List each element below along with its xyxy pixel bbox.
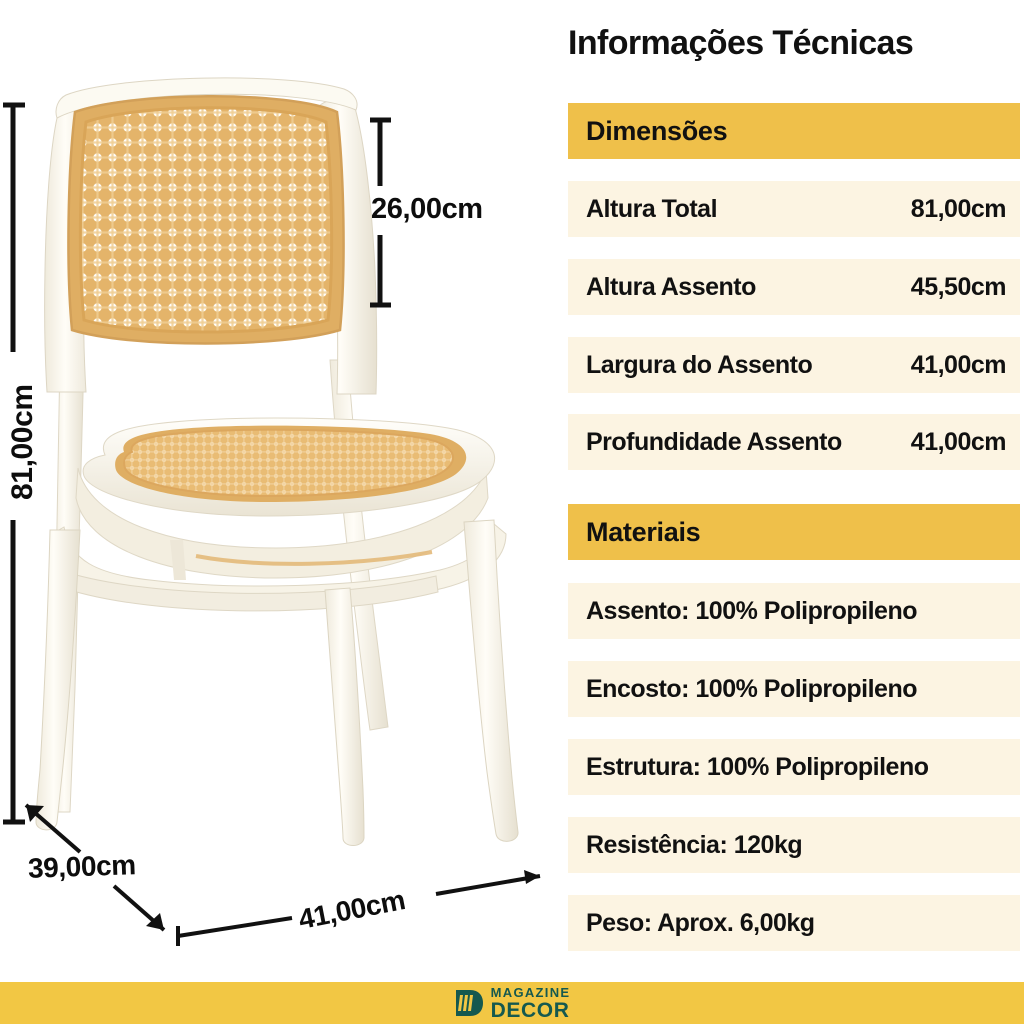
table-row: Peso: Aprox. 6,00kg [568,895,1020,951]
dimension-label-altura-total: 81,00cm [6,384,40,500]
row-value-largura-assento: 41,00cm [911,351,1006,380]
row-key-peso: Peso: Aprox. 6,00kg [586,909,815,938]
table-row: Altura Total 81,00cm [568,181,1020,237]
chair-backrest-cane [68,96,343,343]
magazine-decor-logo: MAGAZINE DECOR [454,986,571,1021]
dim-arrow-width-end [524,870,540,884]
row-value-altura-total: 81,00cm [911,195,1006,224]
table-row: Largura do Assento 41,00cm [568,337,1020,393]
row-key-encosto-material: Encosto: 100% Polipropileno [586,675,917,704]
section-header-materiais: Materiais [568,504,1020,560]
table-row: Profundidade Assento 41,00cm [568,414,1020,470]
section-header-materiais-label: Materiais [568,517,700,548]
row-key-estrutura-material: Estrutura: 100% Polipropileno [586,753,929,782]
row-key-altura-total: Altura Total [586,195,717,224]
table-row: Resistência: 120kg [568,817,1020,873]
row-key-profundidade-assento: Profundidade Assento [586,428,842,457]
logo-wordmark: MAGAZINE DECOR [491,986,571,1021]
table-row: Altura Assento 45,50cm [568,259,1020,315]
chair-drawing [0,0,556,982]
chair-illustration-pane: 81,00cm 26,00cm 39,00cm 41,00cm [0,0,556,982]
dim-line-width-b [436,876,540,894]
dim-line-width-a [178,918,292,936]
footer-bar: MAGAZINE DECOR [0,982,1024,1024]
row-key-resistencia: Resistência: 120kg [586,831,802,860]
logo-mark-icon [454,988,484,1018]
row-value-profundidade-assento: 41,00cm [911,428,1006,457]
page-title: Informações Técnicas [568,24,913,63]
row-key-assento-material: Assento: 100% Polipropileno [586,597,917,626]
table-row: Assento: 100% Polipropileno [568,583,1020,639]
section-header-dimensoes: Dimensões [568,103,1020,159]
logo-line-magazine: MAGAZINE [491,986,571,999]
technical-info-pane: Informações Técnicas Dimensões Altura To… [556,0,1024,982]
section-header-dimensoes-label: Dimensões [568,116,727,147]
dimension-label-profundidade: 39,00cm [27,849,136,885]
table-row: Encosto: 100% Polipropileno [568,661,1020,717]
logo-line-decor: DECOR [491,1000,571,1021]
dimension-label-altura-encosto: 26,00cm [371,193,483,226]
row-key-largura-assento: Largura do Assento [586,351,812,380]
product-spec-sheet: 81,00cm 26,00cm 39,00cm 41,00cm Informaç… [0,0,1024,1024]
row-key-altura-assento: Altura Assento [586,273,756,302]
row-value-altura-assento: 45,50cm [911,273,1006,302]
table-row: Estrutura: 100% Polipropileno [568,739,1020,795]
